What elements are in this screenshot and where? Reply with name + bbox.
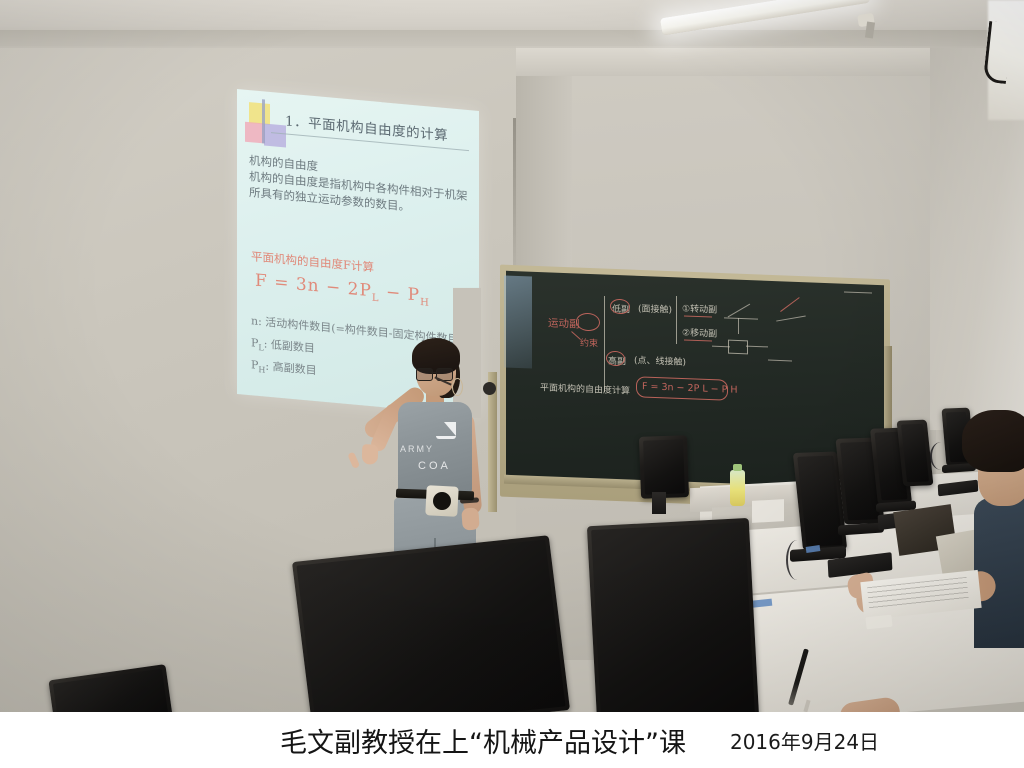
caption-date: 2016年9月24日 — [730, 726, 879, 755]
chalk-circle-highlight — [576, 313, 600, 332]
shirt-text-coa: COA — [418, 460, 451, 472]
white-device-box — [752, 499, 784, 523]
chalk-brace-sub — [676, 296, 677, 344]
caption-text: 毛文副教授在上“机械产品设计”课 — [280, 721, 686, 760]
lecturer-hand-right — [461, 507, 479, 530]
chalk-diagram-box — [728, 340, 748, 355]
chalk-note-yueshu: 约束 — [580, 336, 598, 350]
monitor-mid-small — [639, 435, 689, 499]
bottle-cap — [733, 464, 742, 471]
chalk-note-dianxian: (点、线接触) — [634, 353, 686, 368]
lecturer-earring — [452, 378, 463, 396]
slide-formula-sub-1: L — [372, 293, 380, 305]
chalk-circle-gaofu — [606, 351, 625, 367]
monitor-foreground-right — [587, 518, 759, 726]
caption-bar: 毛文副教授在上“机械产品设计”课 2016年9月24日 — [0, 712, 1024, 768]
slide-formula-part-1: F = 3n − 2P — [255, 271, 372, 302]
monitor-mid-stand — [652, 492, 666, 514]
chalk-note-yundongfu: 运动副 — [548, 315, 580, 331]
slide-body: 机构的自由度 机构的自由度是指机构中各构件相对于机架 所具有的独立运动参数的数目… — [249, 152, 475, 221]
lecturer-pointing-finger — [347, 452, 360, 469]
chalk-brace-main — [604, 296, 605, 392]
chalk-note-yidongfu: ②移动副 — [682, 325, 717, 339]
chalk-circle-difu — [610, 299, 630, 315]
monitor-foreground-left — [292, 535, 570, 737]
beverage-bottle — [730, 470, 745, 506]
chalk-note-mianjiechu: (面接触) — [638, 301, 672, 315]
slide-formula-sub-2: H — [420, 297, 430, 309]
student-hair — [962, 410, 1024, 472]
shirt-boat-graphic — [434, 422, 458, 442]
slide-formula-part-2: − P — [380, 282, 421, 306]
slide-title: 1．平面机构自由度的计算 — [285, 109, 448, 144]
monitor-cable-2 — [930, 442, 952, 470]
chalk-note-zhuandongfu: ①转动副 — [682, 301, 717, 315]
classroom-photo: 1．平面机构自由度的计算 机构的自由度 机构的自由度是指机构中各构件相对于机架 … — [0, 0, 1024, 768]
chalk-diagram-line-3 — [738, 318, 739, 334]
amplifier-speaker-grille — [433, 492, 451, 510]
shirt-text-army: ARMY — [400, 444, 470, 454]
blackboard-glare — [504, 275, 532, 368]
lecturer-hand — [362, 444, 379, 465]
slide-decor-squares — [245, 102, 285, 150]
